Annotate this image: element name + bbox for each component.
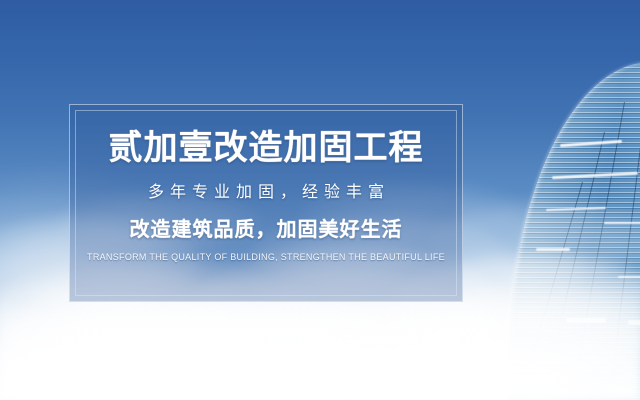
hero-text-panel: 贰加壹改造加固工程 多年专业加固，经验丰富 改造建筑品质，加固美好生活 TRAN… (69, 104, 463, 302)
panel-content: 贰加壹改造加固工程 多年专业加固，经验丰富 改造建筑品质，加固美好生活 TRAN… (70, 105, 462, 301)
skyscraper-image (490, 0, 640, 400)
english-tagline-text: TRANSFORM THE QUALITY OF BUILDING, STREN… (87, 253, 445, 262)
hero-banner: 贰加壹改造加固工程 多年专业加固，经验丰富 改造建筑品质，加固美好生活 TRAN… (0, 0, 640, 400)
subtitle-text: 多年专业加固，经验丰富 (142, 185, 390, 201)
curved-glass-skyscraper-icon (508, 62, 640, 400)
tagline-text: 改造建筑品质，加固美好生活 (130, 220, 403, 240)
page-title: 贰加壹改造加固工程 (109, 131, 424, 165)
